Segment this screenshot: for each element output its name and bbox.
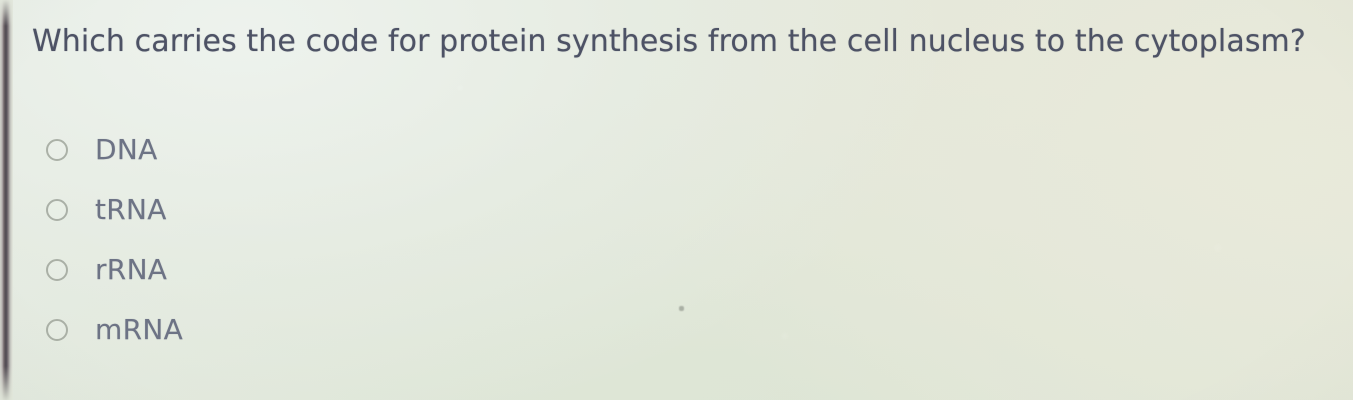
radio-button-rrna[interactable] [46,259,68,281]
option-row-trna[interactable]: tRNA [46,180,646,240]
left-edge-top-fade [0,0,13,26]
option-label-rrna: rRNA [95,255,167,285]
left-edge-bottom-fade [0,366,13,400]
radio-button-mrna[interactable] [46,319,68,341]
page-left-edge-strip [0,0,13,400]
radio-button-trna[interactable] [46,199,68,221]
option-label-dna: DNA [95,135,158,165]
option-label-trna: tRNA [95,195,167,225]
answer-options-list: DNA tRNA rRNA mRNA [46,120,646,360]
question-text: Which carries the code for protein synth… [32,22,1332,62]
option-label-mrna: mRNA [95,315,183,345]
quiz-photo-canvas: Which carries the code for protein synth… [0,0,1353,400]
option-row-mrna[interactable]: mRNA [46,300,646,360]
dust-speck-artifact [679,306,684,311]
radio-button-dna[interactable] [46,139,68,161]
option-row-dna[interactable]: DNA [46,120,646,180]
option-row-rrna[interactable]: rRNA [46,240,646,300]
quiz-content: Which carries the code for protein synth… [0,0,1353,400]
